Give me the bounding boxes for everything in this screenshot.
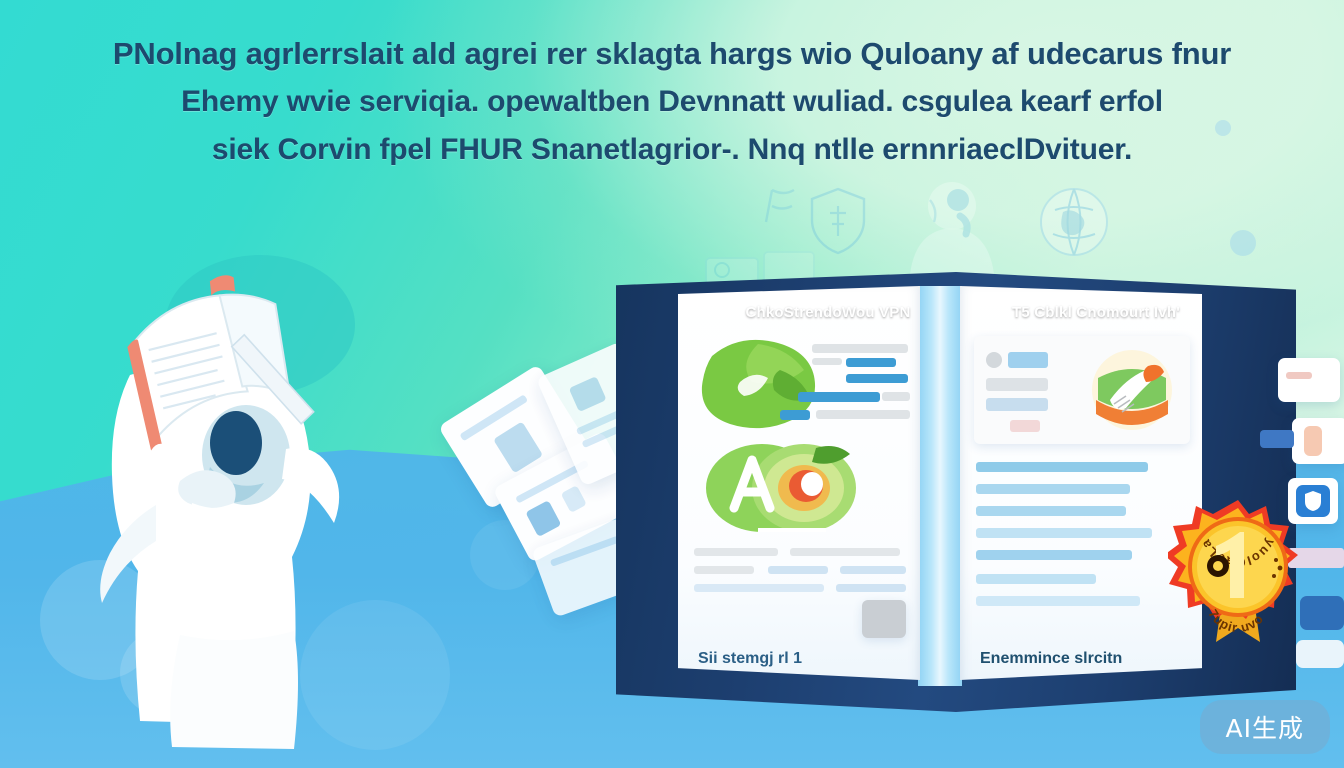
right-page-header-label: T5 Cblkl Cnomourt Ivh' (946, 284, 1246, 340)
person-reading-illustration (60, 205, 360, 750)
text-bar (976, 528, 1152, 538)
text-bar (694, 548, 778, 556)
text-bar (812, 344, 908, 353)
text-bar (1010, 420, 1040, 432)
mini-card (1260, 430, 1294, 448)
book-right-page: Enemmince slrcitn (960, 286, 1202, 684)
text-bar (840, 566, 906, 574)
headline: PNolnag agrlerrslait ald agrei rer sklag… (0, 30, 1344, 174)
text-bar (836, 584, 906, 592)
text-bar (790, 548, 900, 556)
text-bar (976, 506, 1126, 516)
headline-line-1: PNolnag agrlerrslait ald agrei rer sklag… (56, 30, 1288, 78)
text-bar (976, 596, 1140, 606)
text-bar (1008, 352, 1048, 368)
avatar-dot (986, 352, 1002, 368)
brand-logo-graphic (700, 434, 870, 539)
text-bar (812, 358, 842, 365)
left-page-content: Sii stemgj rl 1 (690, 334, 908, 674)
text-bar (694, 584, 824, 592)
right-page-caption: Enemmince slrcitn (980, 650, 1182, 668)
text-bar (986, 378, 1048, 391)
text-bar (798, 392, 880, 402)
headline-line-3: siek Corvin fpel FHUR Snanetlagrior-. Nn… (56, 126, 1288, 174)
cloud-icon (760, 180, 808, 228)
mini-card (1292, 418, 1344, 464)
text-bar (976, 462, 1148, 472)
bokeh-circle (1230, 230, 1256, 256)
text-bar (882, 392, 910, 401)
text-bar (846, 374, 908, 383)
left-page-header-label: ChkoStrendoWou VPN (678, 284, 978, 340)
book-left-page: Sii stemgj rl 1 (678, 286, 920, 684)
text-bar (694, 566, 754, 574)
profile-card (974, 336, 1190, 444)
left-page-caption: Sii stemgj rl 1 (698, 650, 900, 668)
text-bar (816, 410, 910, 419)
award-ribbon-icon: yuoIGaoLa 7upir uvo 1 (1168, 496, 1308, 646)
award-medal-icon (1090, 348, 1174, 432)
text-bar (780, 410, 810, 420)
text-bar (846, 358, 896, 367)
person-icon (900, 170, 1004, 280)
text-bar (768, 566, 828, 574)
globe-icon (1035, 182, 1113, 262)
ai-generated-watermark: AI生成 (1200, 700, 1330, 754)
mini-card (1278, 358, 1340, 402)
page-thumbnail (862, 600, 906, 638)
headline-line-2: Ehemy wvie serviqia. opewaltben Devnnatt… (56, 78, 1288, 126)
book-gutter (918, 286, 962, 686)
text-bar (1286, 372, 1312, 379)
text-bar (976, 574, 1096, 584)
thumbnail-chip (1304, 426, 1322, 456)
text-bar (976, 484, 1130, 494)
right-page-content: Enemmince slrcitn (972, 334, 1190, 674)
text-bar (976, 550, 1132, 560)
text-bar (986, 398, 1048, 411)
open-book: Sii stemgj rl 1 (616, 272, 1296, 712)
illustration-canvas: PNolnag agrlerrslait ald agrei rer sklag… (0, 0, 1344, 768)
